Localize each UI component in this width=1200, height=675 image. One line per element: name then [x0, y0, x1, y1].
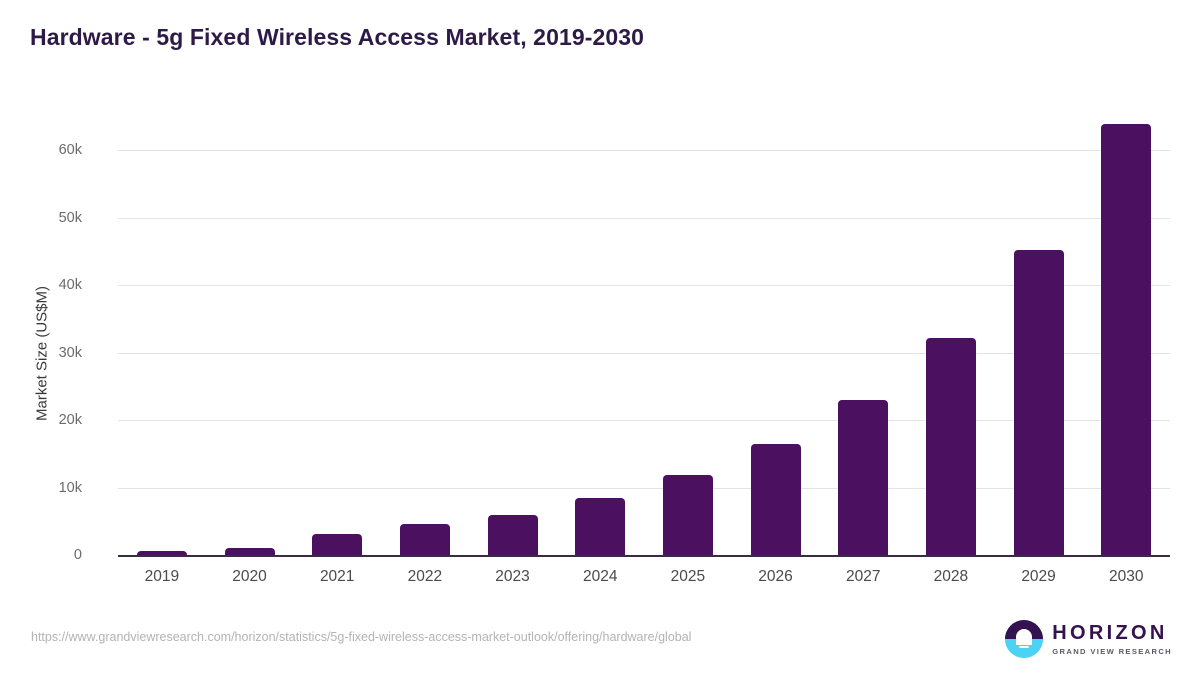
x-axis-tick-label: 2021 — [293, 568, 381, 586]
y-axis-tick-label: 0 — [18, 547, 82, 563]
y-axis-tick-label: 40k — [18, 277, 82, 293]
bar-slot — [381, 110, 469, 555]
y-axis-tick-label: 50k — [18, 210, 82, 226]
x-axis-line — [118, 555, 1170, 557]
x-axis-tick-label: 2022 — [381, 568, 469, 586]
x-axis-tick-label: 2026 — [732, 568, 820, 586]
bar-2020[interactable] — [225, 548, 275, 555]
x-axis-tick-label: 2025 — [644, 568, 732, 586]
horizon-logo[interactable]: HORIZON GRAND VIEW RESEARCH — [1005, 618, 1172, 660]
bar-slot — [293, 110, 381, 555]
x-axis-tick-label: 2024 — [556, 568, 644, 586]
x-axis-tick-label: 2023 — [469, 568, 557, 586]
bar-2022[interactable] — [400, 524, 450, 555]
bar-2030[interactable] — [1101, 124, 1151, 556]
chart-card: Hardware - 5g Fixed Wireless Access Mark… — [0, 0, 1200, 675]
bar-slot — [206, 110, 294, 555]
plot-area: Market Size (US$M) 010k20k30k40k50k60k 2… — [0, 0, 1200, 675]
logo-tagline: GRAND VIEW RESEARCH — [1052, 648, 1172, 656]
x-axis-tick-labels: 2019202020212022202320242025202620272028… — [118, 568, 1170, 586]
bar-slot — [819, 110, 907, 555]
bar-slot — [118, 110, 206, 555]
bar-2028[interactable] — [926, 338, 976, 555]
bar-2027[interactable] — [838, 400, 888, 555]
x-axis-tick-label: 2019 — [118, 568, 206, 586]
bar-slot — [469, 110, 557, 555]
x-axis-tick-label: 2028 — [907, 568, 995, 586]
bar-slot — [1082, 110, 1170, 555]
y-axis-tick-label: 30k — [18, 345, 82, 361]
x-axis-tick-label: 2020 — [206, 568, 294, 586]
y-axis-tick-label: 60k — [18, 142, 82, 158]
bar-slot — [556, 110, 644, 555]
bar-slot — [732, 110, 820, 555]
bar-slot — [644, 110, 732, 555]
bars-group — [118, 110, 1170, 555]
bar-slot — [995, 110, 1083, 555]
logo-wordmark: HORIZON — [1052, 623, 1172, 643]
x-axis-tick-label: 2029 — [995, 568, 1083, 586]
y-axis-tick-label: 20k — [18, 412, 82, 428]
bar-2023[interactable] — [488, 515, 538, 555]
horizon-logo-icon — [1005, 620, 1043, 658]
bar-2025[interactable] — [663, 475, 713, 555]
bar-2029[interactable] — [1014, 250, 1064, 555]
bar-slot — [907, 110, 995, 555]
source-url[interactable]: https://www.grandviewresearch.com/horizo… — [31, 630, 691, 644]
bar-2026[interactable] — [751, 444, 801, 555]
x-axis-tick-label: 2030 — [1082, 568, 1170, 586]
y-axis-tick-label: 10k — [18, 480, 82, 496]
x-axis-tick-label: 2027 — [819, 568, 907, 586]
bar-2021[interactable] — [312, 534, 362, 555]
bar-2024[interactable] — [575, 498, 625, 555]
